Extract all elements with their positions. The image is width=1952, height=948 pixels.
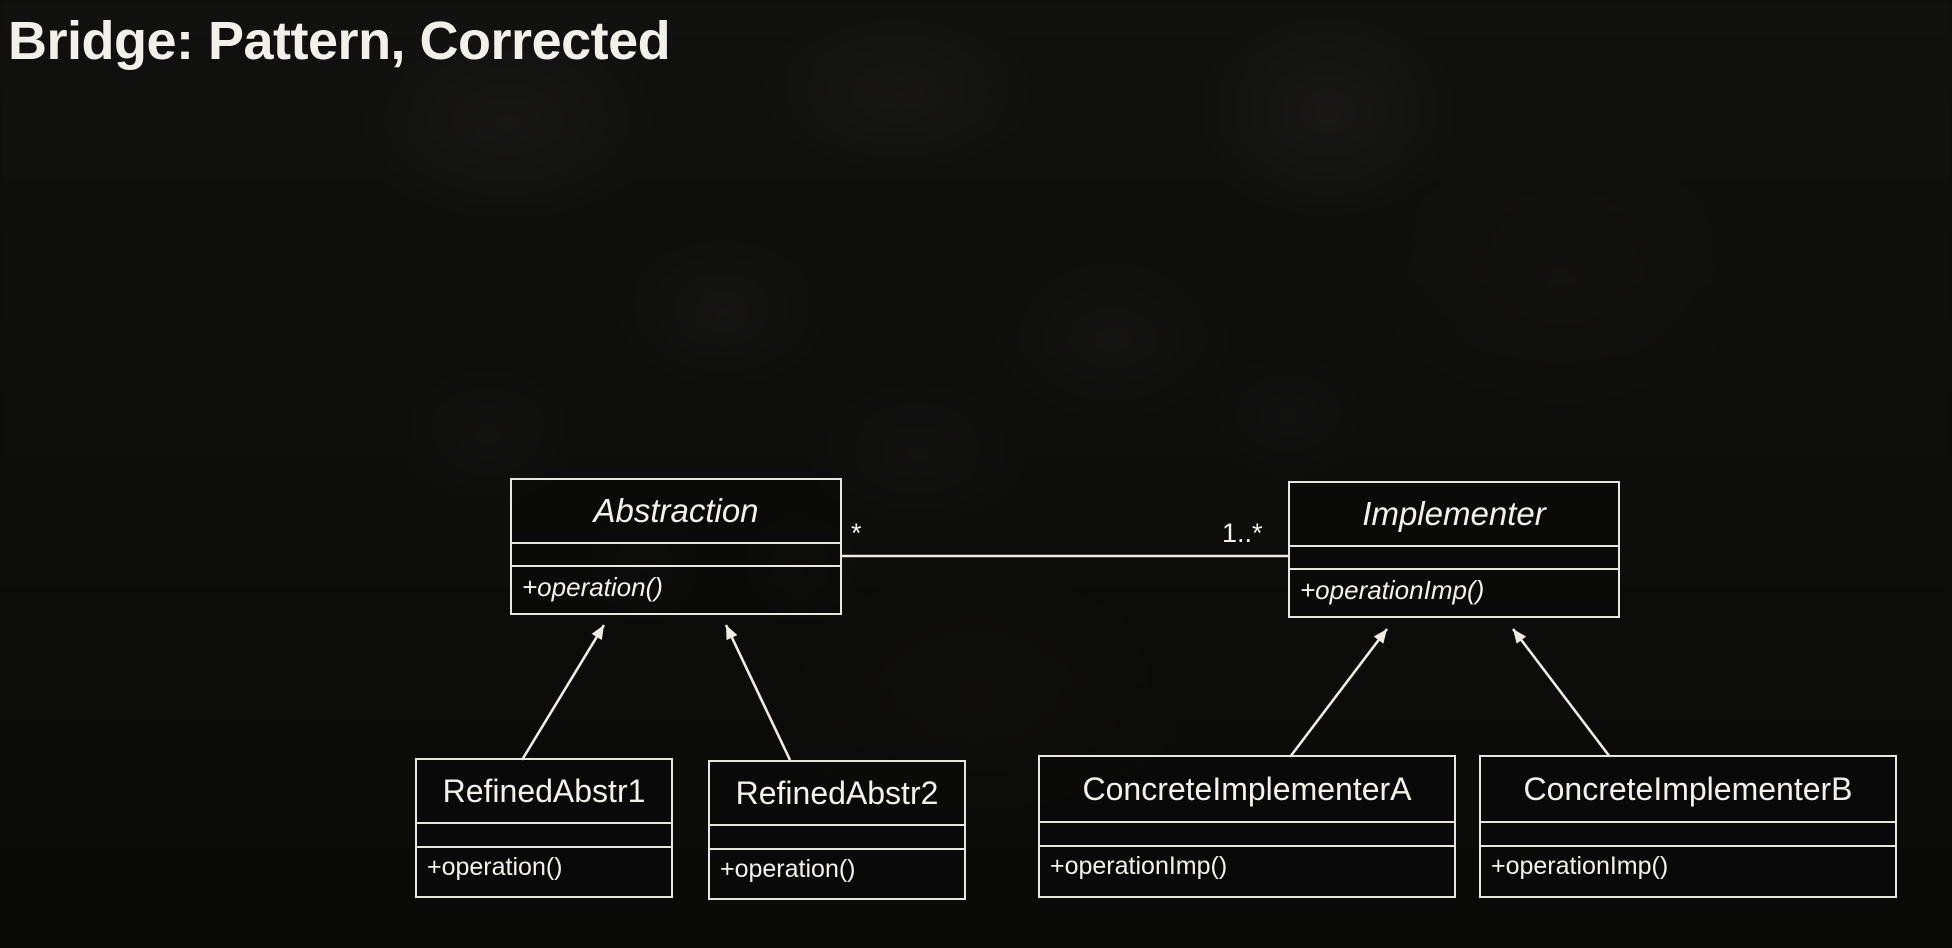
uml-class-refinedabstr1[interactable]: RefinedAbstr1 +operation() [415,758,673,898]
uml-attributes-refinedabstr1 [417,822,671,846]
uml-class-concreteimplementerb[interactable]: ConcreteImplementerB +operationImp() [1479,755,1897,898]
uml-class-name-concreteimplementerb: ConcreteImplementerB [1481,757,1895,821]
uml-class-abstraction[interactable]: Abstraction +operation() [510,478,842,615]
association-multiplicity-source: * [851,518,862,549]
uml-operations-concreteimplementerb: +operationImp() [1481,845,1895,896]
uml-operations-refinedabstr2: +operation() [710,848,964,898]
uml-class-refinedabstr2[interactable]: RefinedAbstr2 +operation() [708,760,966,900]
uml-class-name-implementer: Implementer [1290,483,1618,545]
uml-class-implementer[interactable]: Implementer +operationImp() [1288,481,1620,618]
generalization-refined2-abstraction [726,625,790,760]
uml-attributes-concreteimplementerb [1481,821,1895,845]
uml-class-name-abstraction: Abstraction [512,480,840,542]
association-multiplicity-target: 1..* [1222,518,1263,549]
generalization-refined1-abstraction [522,625,604,760]
uml-class-concreteimplementera[interactable]: ConcreteImplementerA +operationImp() [1038,755,1456,898]
page-title: Bridge: Pattern, Corrected [8,12,670,71]
uml-class-name-refinedabstr1: RefinedAbstr1 [417,760,671,822]
slide-canvas: Bridge: Pattern, Corrected * 1..* Abstra… [0,0,1952,948]
generalization-concreteA-implementer [1290,629,1387,757]
uml-attributes-refinedabstr2 [710,824,964,848]
uml-operations-abstraction: +operation() [512,565,840,613]
uml-attributes-abstraction [512,542,840,565]
uml-operations-concreteimplementera: +operationImp() [1040,845,1454,896]
uml-class-name-concreteimplementera: ConcreteImplementerA [1040,757,1454,821]
generalization-concreteB-implementer [1513,629,1610,757]
uml-attributes-implementer [1290,545,1618,568]
uml-class-name-refinedabstr2: RefinedAbstr2 [710,762,964,824]
uml-attributes-concreteimplementera [1040,821,1454,845]
uml-operations-refinedabstr1: +operation() [417,846,671,896]
uml-operations-implementer: +operationImp() [1290,568,1618,616]
